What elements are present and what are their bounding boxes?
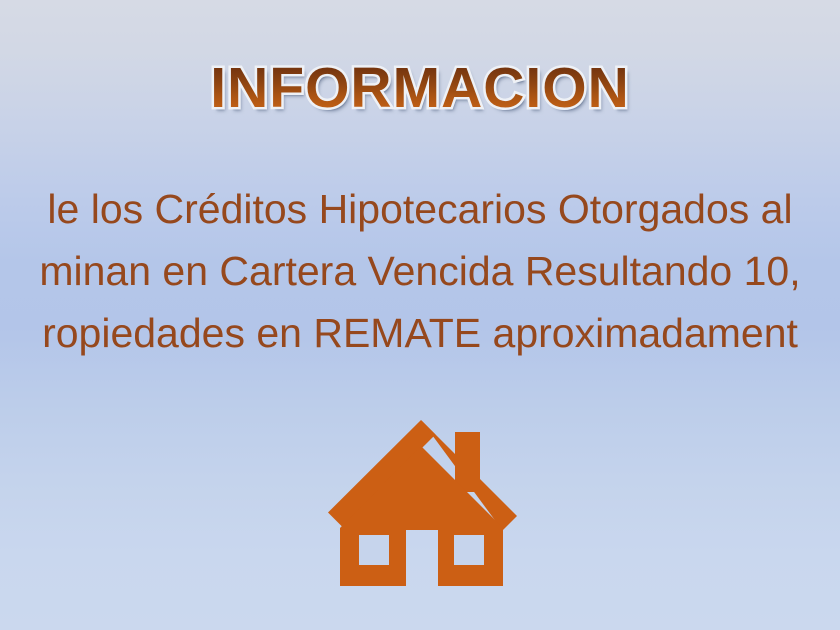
house-icon bbox=[318, 418, 528, 598]
house-window-left-icon bbox=[359, 535, 389, 565]
body-paragraph: le los Créditos Hipotecarios Otorgados a… bbox=[0, 178, 840, 364]
body-line-2: minan en Cartera Vencida Resultando 10, bbox=[0, 240, 840, 302]
house-window-right-icon bbox=[454, 535, 484, 565]
slide-title-fill: INFORMACION bbox=[210, 58, 629, 120]
body-line-1: le los Créditos Hipotecarios Otorgados a… bbox=[0, 178, 840, 240]
house-chimney-icon bbox=[455, 432, 480, 492]
body-line-3: ropiedades en REMATE aproximadament bbox=[0, 302, 840, 364]
slide-canvas: INFORMACION INFORMACION le los Créditos … bbox=[0, 0, 840, 630]
title-area: INFORMACION INFORMACION bbox=[0, 58, 840, 120]
slide-title: INFORMACION INFORMACION bbox=[210, 58, 629, 120]
